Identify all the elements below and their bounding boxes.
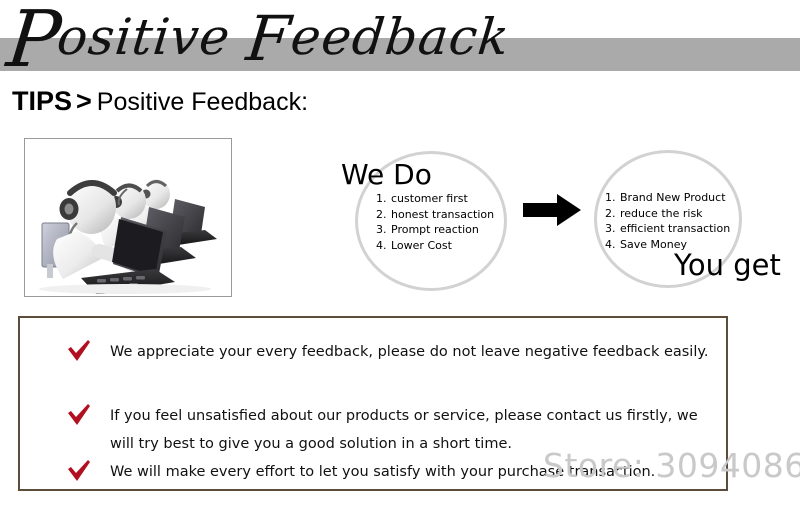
- breadcrumb-subject: Positive Feedback:: [97, 88, 308, 116]
- we-do-list: 1.customer first 2.honest transaction 3.…: [376, 191, 494, 253]
- header-script-title-tail: eedback: [288, 8, 512, 66]
- header-script-title-f: F: [243, 2, 295, 75]
- breadcrumb: TIPS>Positive Feedback:: [12, 86, 308, 117]
- list-item-number: 4.: [376, 238, 391, 254]
- list-item-label: Brand New Product: [620, 191, 726, 204]
- list-item-label: reduce the risk: [620, 207, 703, 220]
- list-item-label: efficient transaction: [620, 222, 730, 235]
- right-arrow-icon: [523, 193, 583, 227]
- header-script-title: Positive Feedback: [4, 2, 532, 74]
- list-item: 1.customer first: [376, 191, 494, 207]
- breadcrumb-separator-icon: >: [76, 86, 92, 116]
- list-item-number: 1.: [376, 191, 391, 207]
- list-item-number: 2.: [605, 206, 620, 222]
- list-item-label: customer first: [391, 192, 468, 205]
- you-get-list: 1.Brand New Product 2.reduce the risk 3.…: [605, 190, 730, 252]
- check-icon: [66, 340, 92, 362]
- list-item: 3.efficient transaction: [605, 221, 730, 237]
- feedback-note-text: We appreciate your every feedback, pleas…: [110, 338, 714, 366]
- list-item-number: 3.: [376, 222, 391, 238]
- list-item-number: 1.: [605, 190, 620, 206]
- list-item: 4.Lower Cost: [376, 238, 494, 254]
- feedback-note: We appreciate your every feedback, pleas…: [66, 338, 714, 366]
- header-script-title-mid: ositive: [55, 8, 251, 66]
- list-item-number: 4.: [605, 237, 620, 253]
- list-item: 1.Brand New Product: [605, 190, 730, 206]
- list-item-number: 3.: [605, 221, 620, 237]
- list-item: 2.reduce the risk: [605, 206, 730, 222]
- list-item-number: 2.: [376, 207, 391, 223]
- you-get-heading: You get: [674, 248, 781, 282]
- list-item-label: honest transaction: [391, 208, 494, 221]
- check-icon: [66, 460, 92, 482]
- header-script-title-p: P: [3, 0, 66, 85]
- store-watermark: Store: 30940866: [543, 446, 800, 485]
- call-center-illustration: [25, 139, 229, 294]
- call-center-photo: [24, 138, 232, 297]
- list-item-label: Lower Cost: [391, 239, 452, 252]
- we-do-heading: We Do: [341, 158, 432, 191]
- list-item: 3.Prompt reaction: [376, 222, 494, 238]
- breadcrumb-tips-label: TIPS: [12, 86, 72, 116]
- check-icon: [66, 404, 92, 426]
- list-item: 2.honest transaction: [376, 207, 494, 223]
- list-item-label: Prompt reaction: [391, 223, 479, 236]
